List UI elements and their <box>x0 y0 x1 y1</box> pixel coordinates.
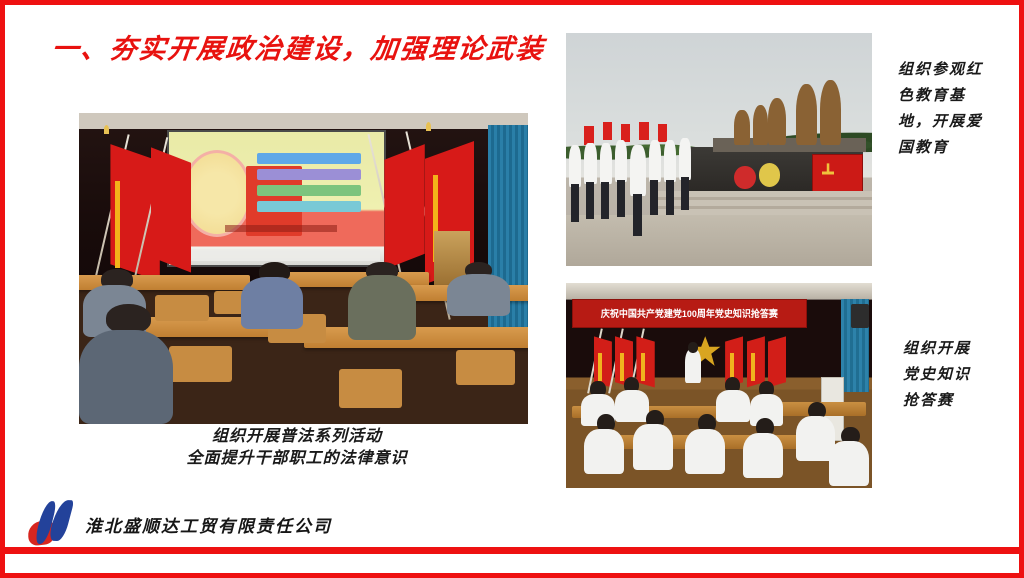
presenter-head <box>688 342 697 352</box>
small-red-flag <box>658 124 667 143</box>
participant-leader <box>630 145 645 196</box>
flag-tip <box>426 122 431 131</box>
company-logo <box>28 500 78 545</box>
participant-legs <box>586 182 594 219</box>
participant-legs <box>571 184 579 221</box>
caption-law-lecture: 组织开展普法系列活动 全面提升干部职工的法律意识 <box>112 426 482 470</box>
caption-line-2: 全面提升干部职工的法律意识 <box>112 448 482 470</box>
flag-tip <box>104 125 109 134</box>
participant-legs <box>681 177 689 210</box>
wreath <box>759 163 780 186</box>
person-body <box>348 275 415 340</box>
audience-area <box>79 262 528 424</box>
screen-button-2 <box>257 169 360 180</box>
party-emblem-board <box>812 154 863 193</box>
flag-gold-stripe <box>641 353 645 382</box>
bronze-statue <box>820 80 841 145</box>
participant <box>569 145 581 187</box>
screen-circle-graphic <box>182 150 253 236</box>
red-flag <box>636 336 654 389</box>
attendee <box>615 390 649 423</box>
participant <box>664 140 676 182</box>
screen-button-3 <box>257 185 360 196</box>
bronze-statue <box>768 98 786 145</box>
bronze-statue <box>796 84 817 145</box>
screen-button-1 <box>257 153 360 164</box>
caption-red-education-base: 组织参观红色教育基地，开展爱国教育 <box>898 57 996 161</box>
event-banner-text: 庆祝中国共产党建党100周年党史知识抢答赛 <box>601 307 778 321</box>
attendee <box>829 441 869 486</box>
chair <box>339 369 402 408</box>
photo-red-education-base <box>566 33 872 266</box>
participant <box>679 138 691 180</box>
screen-caption-strip <box>225 225 337 232</box>
wreath <box>734 166 755 189</box>
small-red-flag <box>603 122 612 141</box>
attendee <box>716 390 750 423</box>
participant <box>600 143 612 185</box>
bronze-statue <box>734 110 749 145</box>
flag-gold-stripe <box>751 353 755 382</box>
caption-party-history-quiz: 组织开展党史知识抢答赛 <box>903 336 983 414</box>
bronze-statue <box>753 105 768 145</box>
flag-gold-stripe <box>598 353 602 382</box>
participant-legs <box>601 182 609 219</box>
company-name: 淮北盛顺达工贸有限责任公司 <box>85 512 332 537</box>
person-head <box>106 304 151 333</box>
photo-law-lecture <box>79 113 528 424</box>
participant <box>615 140 627 182</box>
participant <box>584 143 596 185</box>
attendee <box>584 429 624 474</box>
participant-legs <box>617 180 625 217</box>
plaza-ground <box>566 215 872 266</box>
slide: 一、夯实开展政治建设，加强理论武装 <box>0 0 1024 578</box>
photo-party-history-quiz: 庆祝中国共产党建党100周年党史知识抢答赛 <box>566 283 872 488</box>
hall-ceiling <box>566 283 872 299</box>
red-flag <box>384 144 424 275</box>
speaker-icon <box>851 304 869 329</box>
red-flag <box>151 147 191 278</box>
attendee <box>633 424 673 469</box>
participant-legs <box>633 194 642 236</box>
flag-gold-stripe <box>115 181 120 268</box>
participant-legs <box>666 180 674 215</box>
chair <box>155 295 209 321</box>
presenter <box>685 349 700 384</box>
ceiling <box>79 113 528 129</box>
page-title: 一、夯实开展政治建设，加强理论武装 <box>50 27 547 66</box>
attendee <box>685 429 725 474</box>
footer-red-bar <box>5 547 1019 554</box>
caption-line-1: 组织开展普法系列活动 <box>112 426 482 448</box>
small-red-flag <box>639 122 648 141</box>
screen-button-4 <box>257 201 360 212</box>
event-banner: 庆祝中国共产党建党100周年党史知识抢答赛 <box>572 299 807 328</box>
participant-legs <box>650 180 658 215</box>
projection-screen <box>169 132 385 266</box>
person-body <box>241 277 304 329</box>
participant <box>649 140 661 182</box>
chair <box>169 346 232 382</box>
chair <box>456 350 514 386</box>
desk <box>304 327 529 348</box>
person-body <box>79 330 173 424</box>
person-body <box>447 274 510 316</box>
attendee <box>743 433 783 478</box>
flag-gold-stripe <box>620 353 624 382</box>
video-player-bar <box>173 249 380 261</box>
